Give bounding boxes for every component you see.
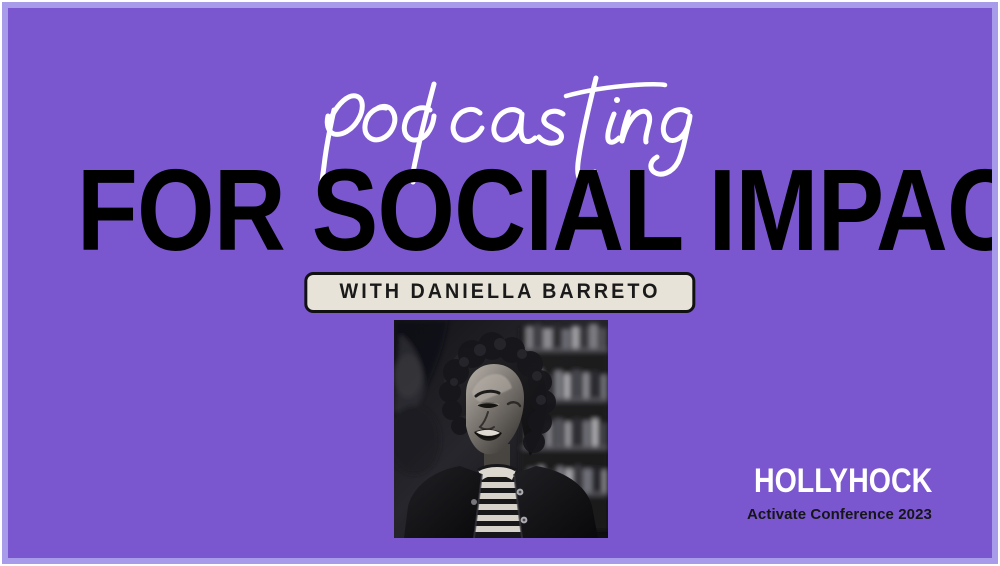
speaker-photo xyxy=(394,320,608,538)
page-title: FOR SOCIAL IMPACT xyxy=(77,152,923,268)
brand-block: HOLLYHOCK Activate Conference 2023 xyxy=(720,464,932,522)
presentation-slide: FOR SOCIAL IMPACT WITH DANIELLA BARRETO xyxy=(0,0,1000,566)
slide-canvas: FOR SOCIAL IMPACT WITH DANIELLA BARRETO xyxy=(8,8,992,558)
presenter-badge: WITH DANIELLA BARRETO xyxy=(304,272,695,313)
brand-subtitle: Activate Conference 2023 xyxy=(720,507,932,522)
presenter-badge-label: WITH DANIELLA BARRETO xyxy=(340,281,661,302)
brand-name: HOLLYHOCK xyxy=(754,464,932,498)
speaker-photo-image xyxy=(394,320,608,538)
